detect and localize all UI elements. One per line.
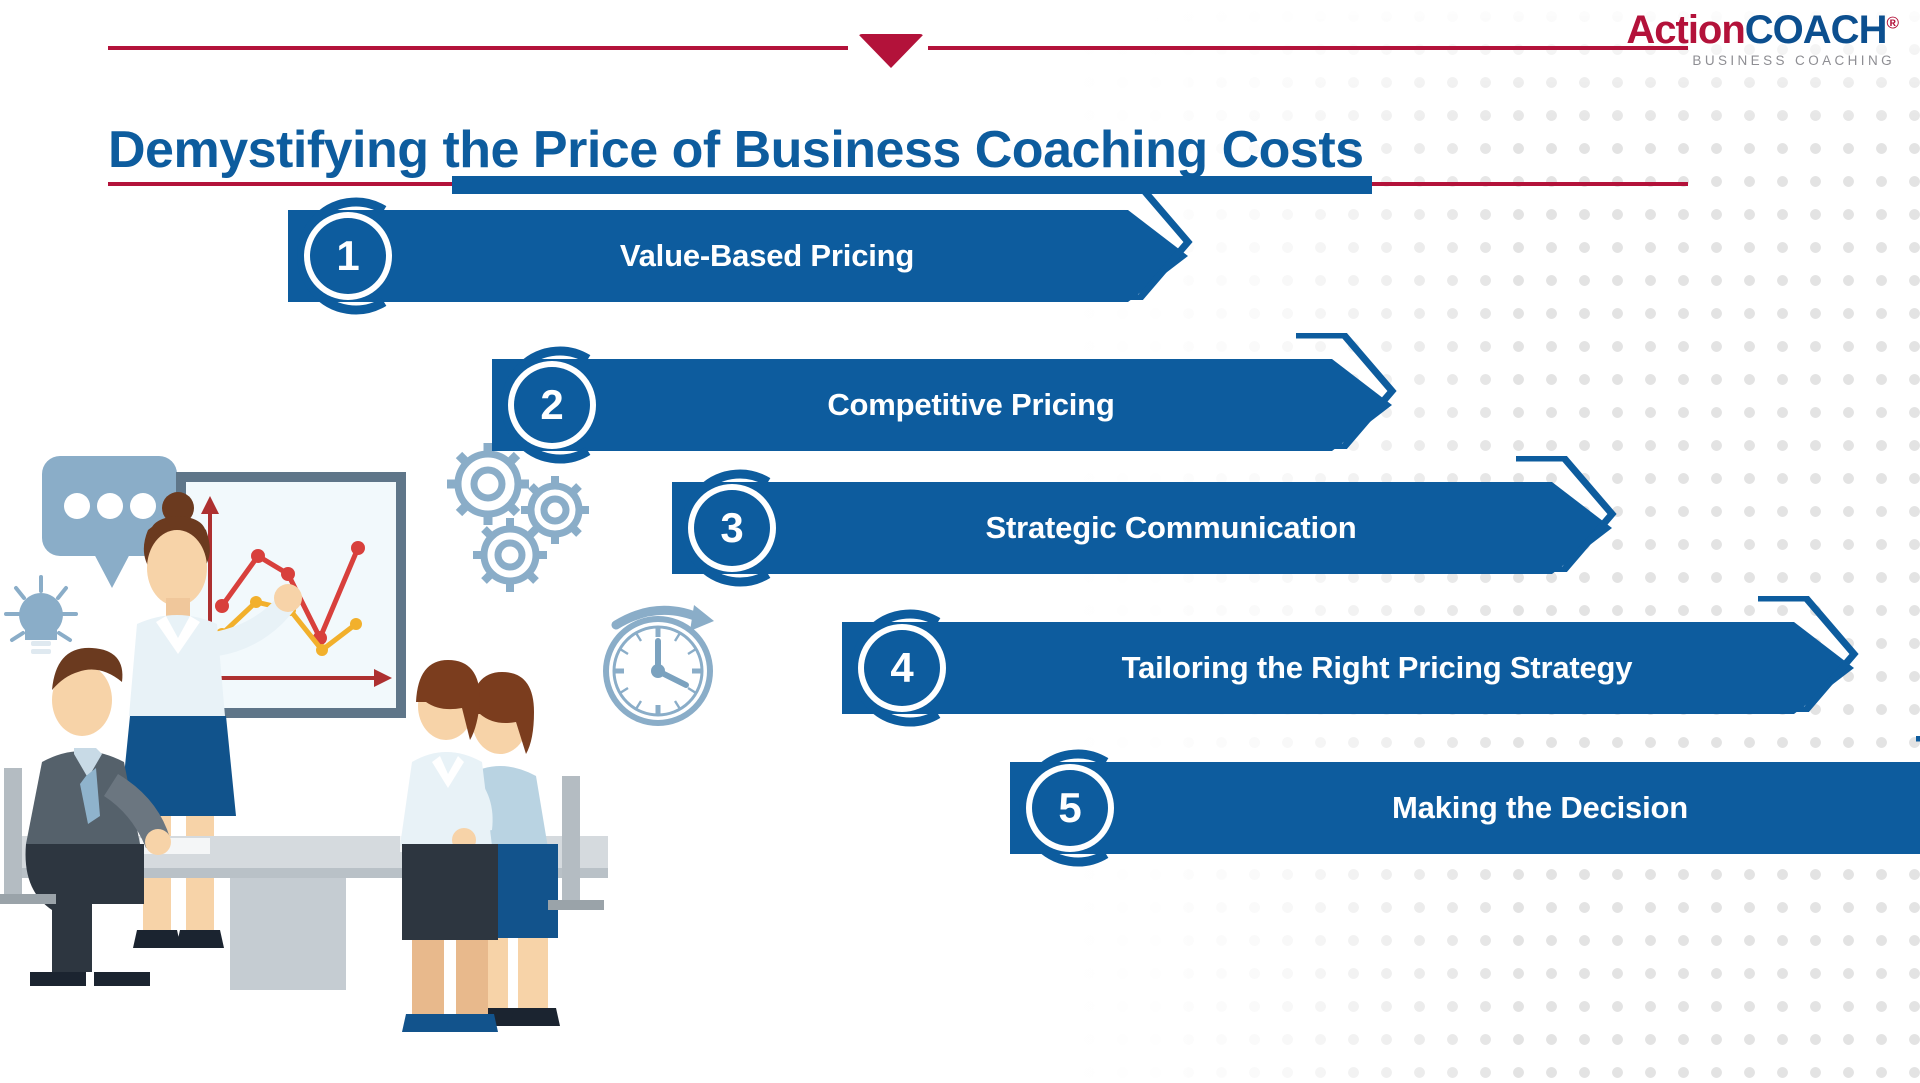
page-title: Demystifying the Price of Business Coach… <box>108 120 1688 180</box>
step-label: Value-Based Pricing <box>406 210 1128 302</box>
header-rule-left <box>108 46 848 50</box>
step-item-4[interactable]: Tailoring the Right Pricing Strategy4 <box>842 608 1854 728</box>
header-rule-right <box>928 46 1688 50</box>
step-number-badge[interactable] <box>672 468 792 588</box>
business-meeting-illustration <box>0 438 660 1083</box>
triangle-down-icon <box>858 34 924 68</box>
lightbulb-icon <box>6 577 76 654</box>
actioncoach-logo: ActionCOACH® BUSINESS COACHING <box>1626 10 1898 68</box>
seated-women-figures <box>400 660 604 1032</box>
logo-coach-text: COACH <box>1745 8 1887 52</box>
step-label: Competitive Pricing <box>610 359 1332 451</box>
registered-trademark-icon: ® <box>1886 14 1898 33</box>
step-item-3[interactable]: Strategic Communication3 <box>672 468 1612 588</box>
step-label: Tailoring the Right Pricing Strategy <box>960 622 1794 714</box>
step-item-2[interactable]: Competitive Pricing2 <box>492 345 1392 465</box>
logo-action-text: Action <box>1626 8 1744 52</box>
step-number-badge[interactable] <box>288 196 408 316</box>
step-number-badge[interactable] <box>842 608 962 728</box>
step-number-badge[interactable] <box>1010 748 1130 868</box>
step-label: Making the Decision <box>1128 762 1920 854</box>
step-label: Strategic Communication <box>790 482 1552 574</box>
logo-subtitle: BUSINESS COACHING <box>1626 54 1898 68</box>
step-item-1[interactable]: Value-Based Pricing1 <box>288 196 1188 316</box>
step-item-5[interactable]: Making the Decision5 <box>1010 748 1920 868</box>
step-number-badge[interactable] <box>492 345 612 465</box>
